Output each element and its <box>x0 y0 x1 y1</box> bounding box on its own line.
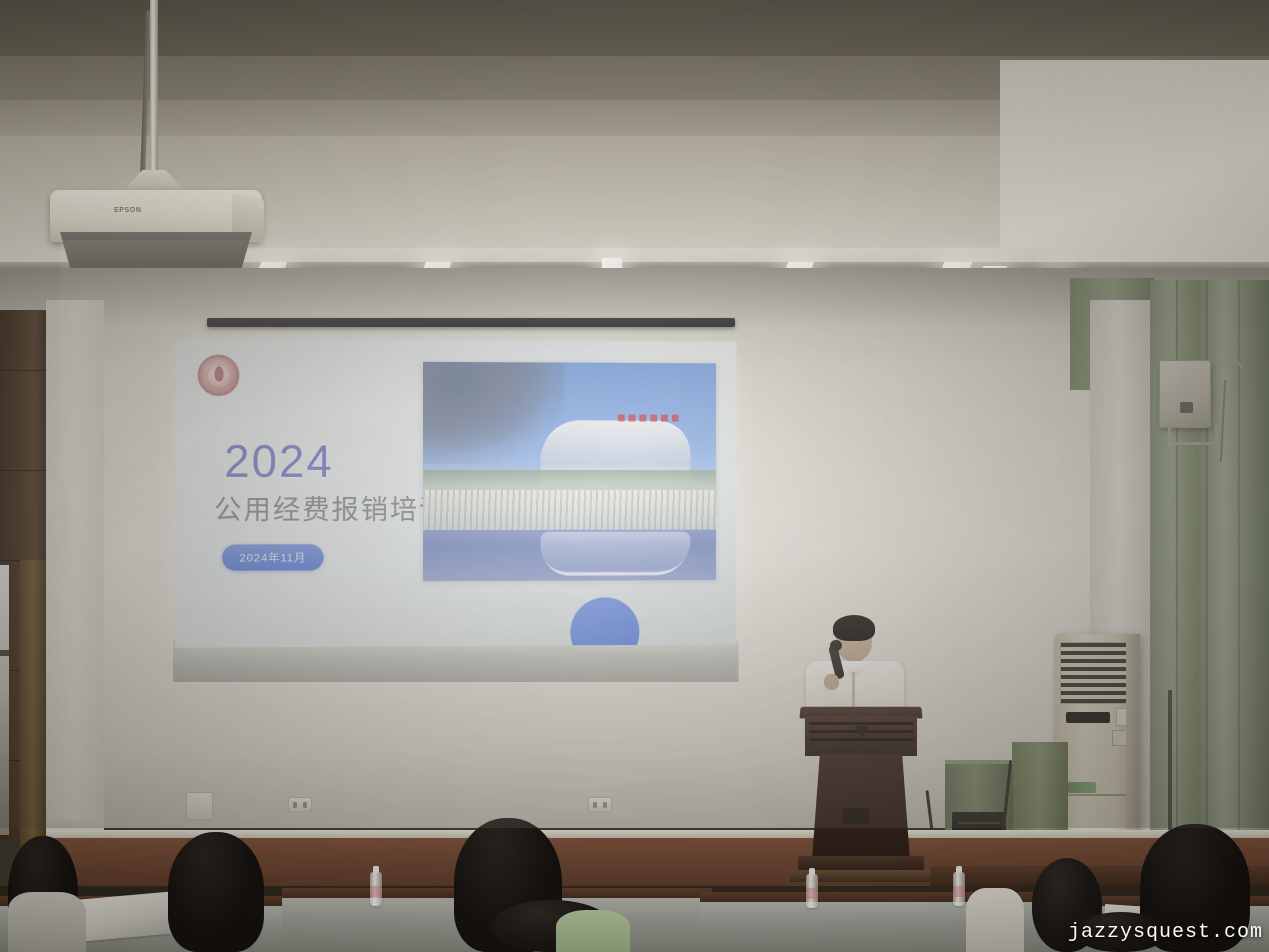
ceiling-back-band <box>0 0 1269 60</box>
water-bottle-2 <box>370 872 382 906</box>
water-bottle-3 <box>806 874 818 908</box>
audience-member-left-shirt <box>8 892 86 952</box>
ceiling-right-wing <box>1000 60 1269 270</box>
projector-brand-label: EPSON <box>114 207 142 214</box>
room-vignette <box>0 268 1269 828</box>
audience-head-2 <box>168 832 264 952</box>
bottle-label <box>370 886 382 897</box>
bottle-label <box>806 888 818 899</box>
water-bottle-4 <box>953 872 965 906</box>
audience-member-green-shirt <box>556 910 630 952</box>
watermark: jazzysquest.com <box>1068 921 1263 944</box>
presentation-room-photo: EPSON 2024 公用经费报销培训 2024年11月 <box>0 0 1269 952</box>
projector-mount-pole <box>150 0 158 176</box>
bottle-label <box>953 886 965 897</box>
audience-member-light-shirt <box>966 888 1024 952</box>
